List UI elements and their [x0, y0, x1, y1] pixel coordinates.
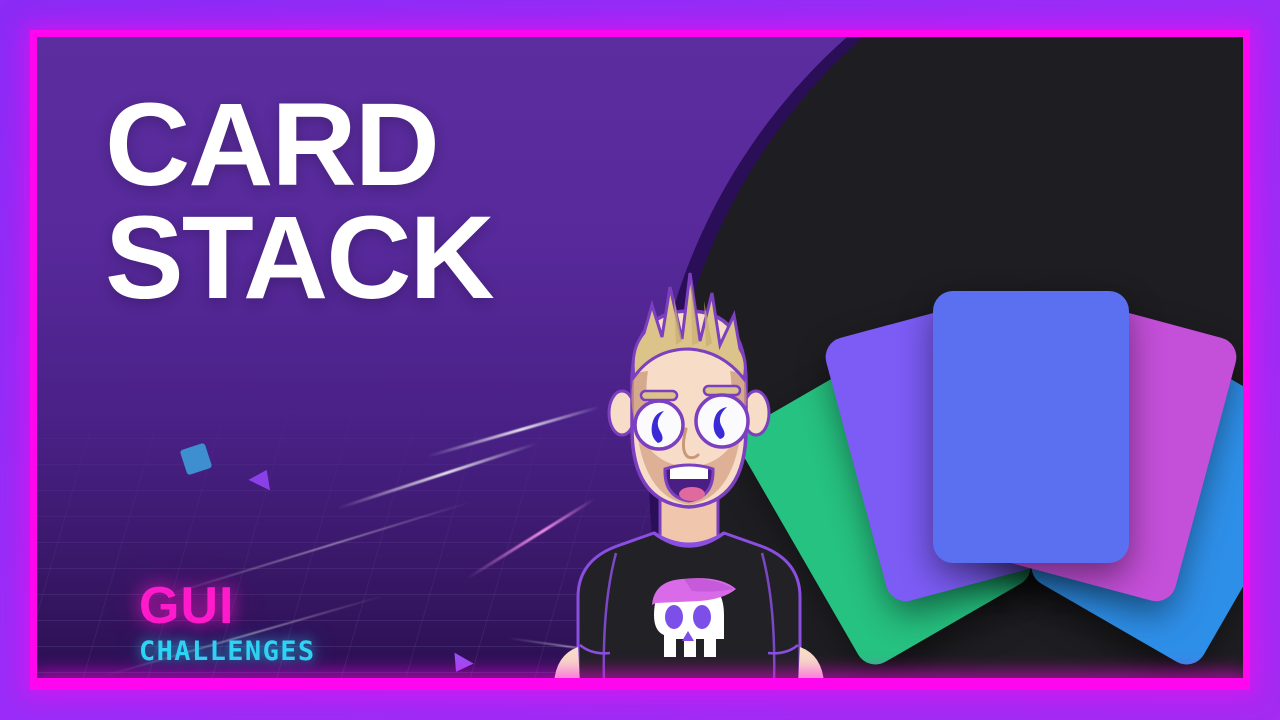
bottom-neon-strip: [37, 678, 1243, 683]
title-line-2: STACK: [105, 202, 493, 315]
host-avatar: [524, 253, 854, 683]
neon-frame-border: CARD STACK GUI CHALLENGES: [30, 30, 1250, 690]
brand-logo: GUI CHALLENGES: [139, 580, 316, 665]
brand-logo-primary: GUI: [139, 580, 316, 632]
title-line-1: CARD: [105, 89, 493, 202]
card-front[interactable]: [933, 291, 1129, 563]
video-thumbnail: CARD STACK GUI CHALLENGES: [0, 0, 1280, 720]
page-title: CARD STACK: [105, 89, 493, 316]
brand-logo-secondary: CHALLENGES: [139, 638, 316, 665]
